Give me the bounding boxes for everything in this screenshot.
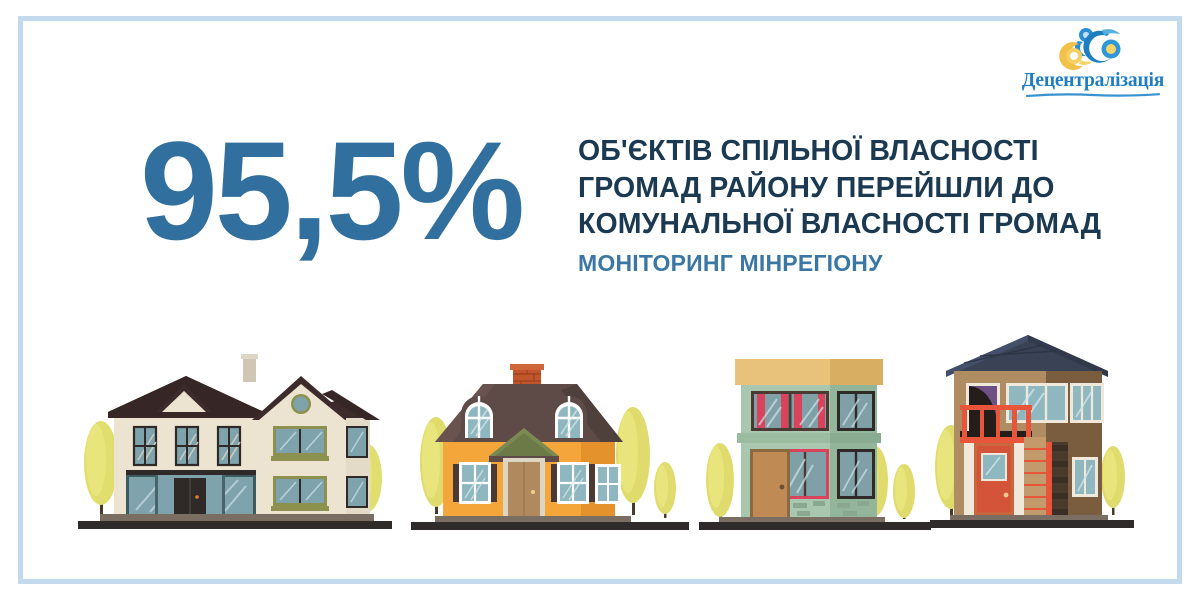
logo-wordmark: Децентралізація [1018,70,1168,92]
house-illustration-brown-balcony-house [928,325,1136,530]
infographic-canvas: Децентралізація 95,5% ОБ'ЄКТІВ СПІЛЬНОЇ … [0,0,1200,600]
headline-line-1: ОБ'ЄКТІВ СПІЛЬНОЇ ВЛАСНОСТІ [578,133,1148,170]
decentralization-logo[interactable]: Децентралізація [1018,24,1168,102]
statistic-value: 95,5% [96,116,566,266]
house-illustration-mint-townhouse [697,345,933,530]
logo-underline-stroke [1026,93,1160,97]
house-illustration-orange-cottage [405,350,695,530]
headline-block: ОБ'ЄКТІВ СПІЛЬНОЇ ВЛАСНОСТІ ГРОМАД РАЙОН… [578,133,1148,243]
headline-line-3: КОМУНАЛЬНОЇ ВЛАСНОСТІ ГРОМАД [578,206,1148,243]
house-illustration-beige-manor [70,350,400,530]
subtitle-source-label: МОНІТОРИНГ МІНРЕГІОНУ [578,250,883,277]
decentralization-swirl-logo-icon [1054,24,1130,72]
headline-line-2: ГРОМАД РАЙОНУ ПЕРЕЙШЛИ ДО [578,170,1148,207]
